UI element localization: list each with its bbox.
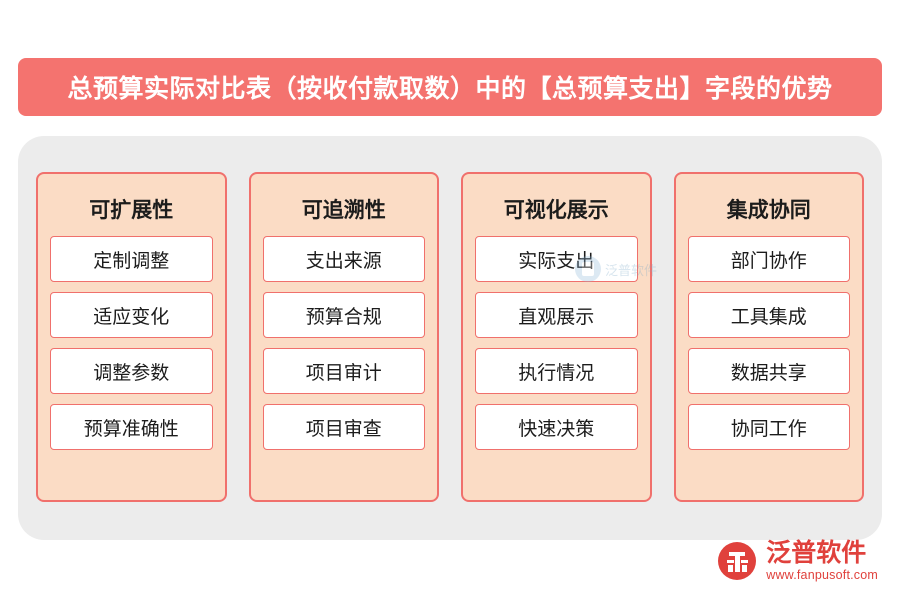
column-heading: 集成协同 bbox=[688, 184, 851, 236]
page-title: 总预算实际对比表（按收付款取数）中的【总预算支出】字段的优势 bbox=[67, 69, 832, 105]
list-item: 预算合规 bbox=[263, 292, 426, 338]
column-traceability: 可追溯性 支出来源 预算合规 项目审计 项目审查 bbox=[249, 172, 440, 502]
list-item: 项目审查 bbox=[263, 404, 426, 450]
column-items: 部门协作 工具集成 数据共享 协同工作 bbox=[688, 236, 851, 488]
brand-logo: 泛普软件 www.fanpusoft.com bbox=[717, 541, 878, 582]
column-items: 定制调整 适应变化 调整参数 预算准确性 bbox=[50, 236, 213, 488]
title-banner: 总预算实际对比表（按收付款取数）中的【总预算支出】字段的优势 bbox=[18, 58, 882, 116]
list-item: 部门协作 bbox=[688, 236, 851, 282]
list-item: 调整参数 bbox=[50, 348, 213, 394]
column-integration: 集成协同 部门协作 工具集成 数据共享 协同工作 bbox=[674, 172, 865, 502]
column-expandability: 可扩展性 定制调整 适应变化 调整参数 预算准确性 bbox=[36, 172, 227, 502]
list-item: 快速决策 bbox=[475, 404, 638, 450]
column-heading: 可追溯性 bbox=[263, 184, 426, 236]
fanpu-logo-icon bbox=[717, 541, 757, 581]
column-heading: 可视化展示 bbox=[475, 184, 638, 236]
list-item: 定制调整 bbox=[50, 236, 213, 282]
brand-name: 泛普软件 bbox=[766, 541, 878, 567]
column-visualization: 可视化展示 实际支出 直观展示 执行情况 快速决策 bbox=[461, 172, 652, 502]
list-item: 执行情况 bbox=[475, 348, 638, 394]
column-heading: 可扩展性 bbox=[50, 184, 213, 236]
column-items: 实际支出 直观展示 执行情况 快速决策 bbox=[475, 236, 638, 488]
list-item: 适应变化 bbox=[50, 292, 213, 338]
column-items: 支出来源 预算合规 项目审计 项目审查 bbox=[263, 236, 426, 488]
list-item: 工具集成 bbox=[688, 292, 851, 338]
list-item: 直观展示 bbox=[475, 292, 638, 338]
list-item: 支出来源 bbox=[263, 236, 426, 282]
columns-container: 可扩展性 定制调整 适应变化 调整参数 预算准确性 可追溯性 支出来源 预算合规… bbox=[36, 172, 864, 502]
list-item: 预算准确性 bbox=[50, 404, 213, 450]
slide-canvas: 总预算实际对比表（按收付款取数）中的【总预算支出】字段的优势 可扩展性 定制调整… bbox=[0, 0, 900, 600]
list-item: 协同工作 bbox=[688, 404, 851, 450]
brand-url: www.fanpusoft.com bbox=[766, 569, 878, 582]
list-item: 实际支出 bbox=[475, 236, 638, 282]
list-item: 项目审计 bbox=[263, 348, 426, 394]
list-item: 数据共享 bbox=[688, 348, 851, 394]
brand-text: 泛普软件 www.fanpusoft.com bbox=[766, 541, 878, 582]
